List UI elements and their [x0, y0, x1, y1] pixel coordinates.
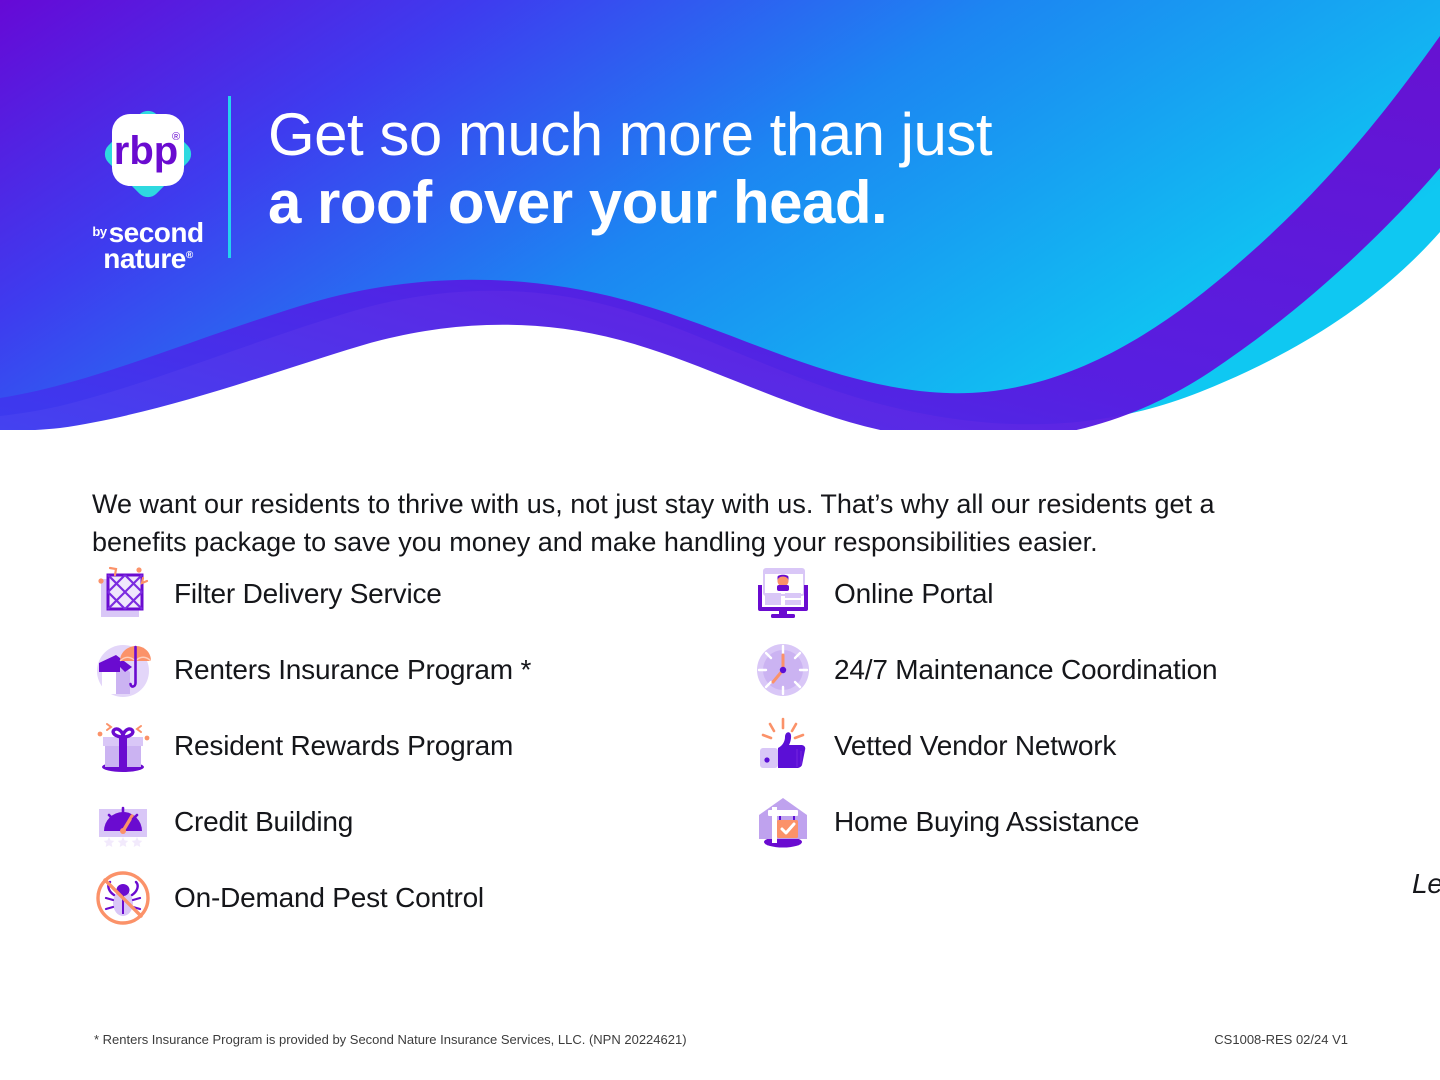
benefit-label: Home Buying Assistance [834, 806, 1139, 838]
thumbs-up-icon [752, 715, 814, 777]
house-sign-icon [752, 791, 814, 853]
benefit-renters-insurance-program: Renters Insurance Program * [92, 632, 732, 708]
logo-nature-text: nature® [88, 246, 208, 272]
flyer-page: rbp ® bysecond nature® Get so much more … [0, 0, 1440, 1080]
benefit-label: Filter Delivery Service [174, 578, 442, 610]
rbp-logo-text: rbp [114, 129, 178, 173]
gift-box-icon [92, 715, 154, 777]
logo-by-second-nature: bysecond nature® [88, 220, 208, 273]
umbrella-house-icon [92, 639, 154, 701]
benefit-label: On-Demand Pest Control [174, 882, 484, 914]
learn-more-link[interactable]: Learn more at secondnature.com/residents [1412, 868, 1440, 900]
hero-banner: rbp ® bysecond nature® Get so much more … [0, 0, 1440, 430]
benefit-online-portal: Online Portal [752, 556, 1392, 632]
rbp-logo-lockup: rbp ® bysecond nature® [88, 98, 208, 273]
benefit-label: Renters Insurance Program * [174, 654, 531, 686]
headline-line-2: a roof over your head. [268, 172, 992, 234]
benefit-vetted-vendor-network: Vetted Vendor Network [752, 708, 1392, 784]
no-pest-icon [92, 867, 154, 929]
benefits-right-column: Online Portal [752, 556, 1392, 860]
credit-gauge-icon [92, 791, 154, 853]
benefit-label: Vetted Vendor Network [834, 730, 1116, 762]
page-title: Get so much more than just a roof over y… [268, 104, 992, 234]
document-code: CS1008-RES 02/24 V1 [1214, 1032, 1348, 1047]
logo-by-text: by [92, 224, 106, 239]
benefit-resident-rewards-program: Resident Rewards Program [92, 708, 732, 784]
benefit-label: Online Portal [834, 578, 993, 610]
benefit-maintenance-coordination: 24/7 Maintenance Coordination [752, 632, 1392, 708]
benefit-label: 24/7 Maintenance Coordination [834, 654, 1217, 686]
insurance-footnote: * Renters Insurance Program is provided … [94, 1032, 687, 1047]
benefit-credit-building: Credit Building [92, 784, 732, 860]
intro-paragraph: We want our residents to thrive with us,… [92, 485, 1307, 562]
headline-line-1: Get so much more than just [268, 104, 992, 166]
benefit-home-buying-assistance: Home Buying Assistance [752, 784, 1392, 860]
rbp-logo-registered: ® [172, 131, 180, 143]
benefit-label: Resident Rewards Program [174, 730, 513, 762]
monitor-portal-icon [752, 563, 814, 625]
benefit-on-demand-pest-control: On-Demand Pest Control [92, 860, 732, 936]
clock-icon [752, 639, 814, 701]
benefits-left-column: Filter Delivery Service [92, 556, 732, 936]
benefit-filter-delivery-service: Filter Delivery Service [92, 556, 732, 632]
rbp-logo-mark: rbp ® [92, 98, 204, 210]
air-filter-icon [92, 563, 154, 625]
benefit-label: Credit Building [174, 806, 353, 838]
header-divider [228, 96, 231, 258]
